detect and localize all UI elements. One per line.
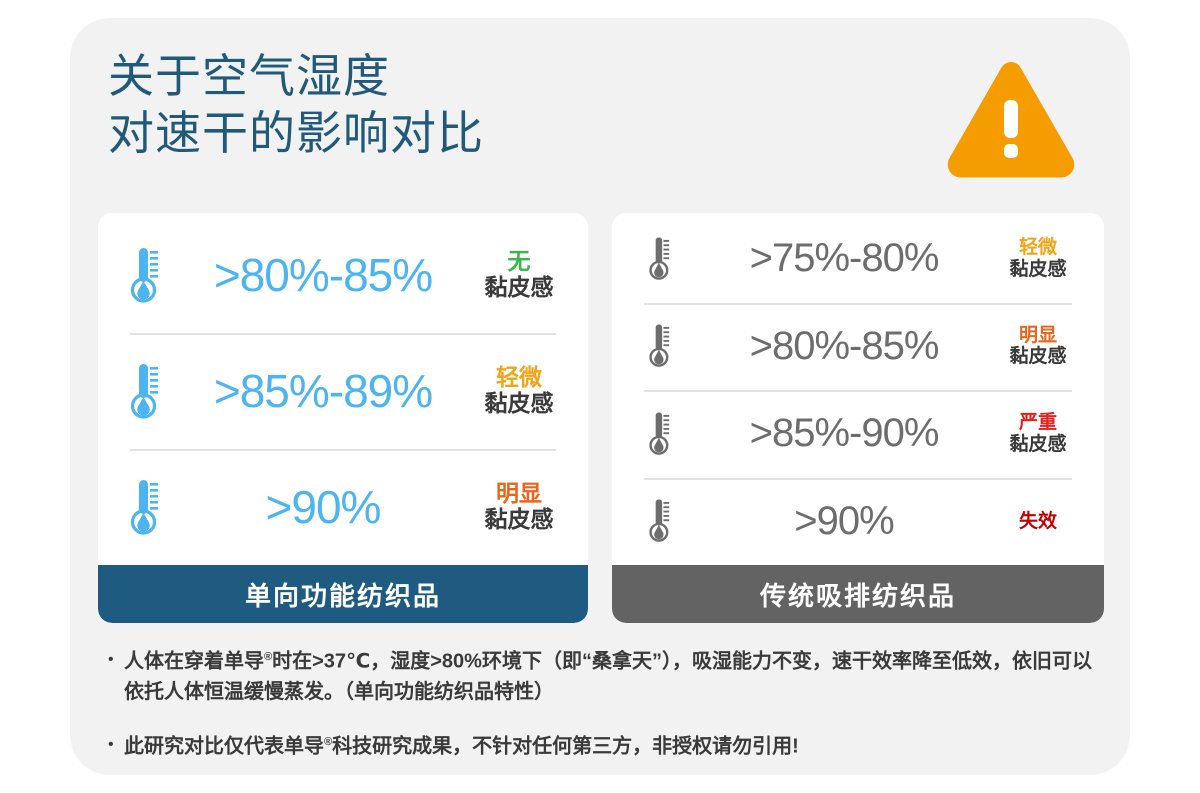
status-level: 轻微 — [990, 237, 1086, 258]
thermometer-icon — [622, 322, 698, 370]
status-level: 轻微 — [466, 365, 572, 391]
humidity-value: >85%-90% — [698, 411, 990, 456]
card-footer-label-right: 传统吸排纺织品 — [612, 565, 1104, 623]
humidity-value: >85%-89% — [180, 364, 466, 418]
title-line-2: 对速干的影响对比 — [108, 105, 484, 162]
table-row: >75%-80% 轻微 黏皮感 — [622, 215, 1094, 303]
header: 关于空气湿度 对速干的影响对比 — [108, 48, 1100, 198]
list-item: • 此研究对比仅代表单导®科技研究成果，不针对任何第三方，非授权请勿引用! — [108, 727, 1108, 762]
humidity-value: >90% — [698, 499, 990, 544]
table-row: >90% 失效 — [622, 478, 1094, 566]
note-text-2: 此研究对比仅代表单导®科技研究成果，不针对任何第三方，非授权请勿引用! — [124, 727, 1108, 762]
status-sub: 黏皮感 — [466, 391, 572, 417]
table-row: >85%-90% 严重 黏皮感 — [622, 390, 1094, 478]
humidity-value: >90% — [180, 480, 466, 534]
table-row: >90% 明显 黏皮感 — [108, 449, 578, 565]
status-sub: 黏皮感 — [990, 259, 1086, 280]
thermometer-icon — [622, 410, 698, 458]
table-row: >85%-89% 轻微 黏皮感 — [108, 333, 578, 449]
card-footer-label-left: 单向功能纺织品 — [98, 565, 588, 623]
infographic-panel: 关于空气湿度 对速干的影响对比 — [70, 18, 1130, 775]
status-badge: 严重 黏皮感 — [990, 412, 1094, 455]
page-title: 关于空气湿度 对速干的影响对比 — [108, 48, 484, 162]
humidity-value: >80%-85% — [698, 324, 990, 369]
footnotes: • 人体在穿着单导®时在>37℃，湿度>80%环境下（即“桑拿天”），吸湿能力不… — [108, 642, 1108, 781]
card-traditional-textile: >75%-80% 轻微 黏皮感 — [612, 213, 1104, 623]
note-text-1: 人体在穿着单导®时在>37℃，湿度>80%环境下（即“桑拿天”），吸湿能力不变，… — [124, 642, 1108, 707]
note-2-part1: 此研究对比仅代表单导 — [124, 735, 324, 757]
note-2-bold-tail: 非授权请勿引用! — [652, 735, 799, 757]
note-2-part2: 科技研究成果，不针对任何第三方， — [332, 735, 652, 757]
thermometer-icon — [622, 235, 698, 283]
status-level: 明显 — [990, 325, 1086, 346]
list-item: • 人体在穿着单导®时在>37℃，湿度>80%环境下（即“桑拿天”），吸湿能力不… — [108, 642, 1108, 707]
note-1-part1: 人体在穿着单导 — [124, 651, 264, 673]
status-level: 失效 — [990, 511, 1086, 532]
left-card-rows: >80%-85% 无 黏皮感 — [98, 213, 588, 565]
status-sub: 黏皮感 — [466, 507, 572, 533]
status-badge: 轻微 黏皮感 — [466, 365, 578, 417]
status-sub: 黏皮感 — [466, 275, 572, 301]
status-sub: 黏皮感 — [990, 434, 1086, 455]
status-badge: 无 黏皮感 — [466, 249, 578, 301]
bullet-icon: • — [108, 642, 124, 668]
status-level: 明显 — [466, 481, 572, 507]
thermometer-icon — [108, 245, 180, 305]
bullet-icon: • — [108, 727, 124, 753]
status-badge: 明显 黏皮感 — [466, 481, 578, 533]
status-badge: 轻微 黏皮感 — [990, 237, 1094, 280]
table-row: >80%-85% 无 黏皮感 — [108, 217, 578, 333]
thermometer-icon — [108, 361, 180, 421]
humidity-value: >80%-85% — [180, 248, 466, 302]
humidity-value: >75%-80% — [698, 236, 990, 281]
card-unidirectional-textile: >80%-85% 无 黏皮感 — [98, 213, 588, 623]
status-sub: 黏皮感 — [990, 346, 1086, 367]
title-line-1: 关于空气湿度 — [108, 48, 484, 105]
warning-triangle-icon — [944, 58, 1078, 183]
right-card-rows: >75%-80% 轻微 黏皮感 — [612, 213, 1104, 565]
status-level: 无 — [466, 249, 572, 275]
status-level: 严重 — [990, 412, 1086, 433]
registered-mark-icon: ® — [264, 651, 272, 663]
thermometer-icon — [108, 477, 180, 537]
status-badge: 失效 — [990, 511, 1094, 532]
status-badge: 明显 黏皮感 — [990, 325, 1094, 368]
table-row: >80%-85% 明显 黏皮感 — [622, 303, 1094, 391]
comparison-cards: >80%-85% 无 黏皮感 — [98, 213, 1104, 623]
registered-mark-icon: ® — [324, 736, 332, 748]
thermometer-icon — [622, 497, 698, 545]
